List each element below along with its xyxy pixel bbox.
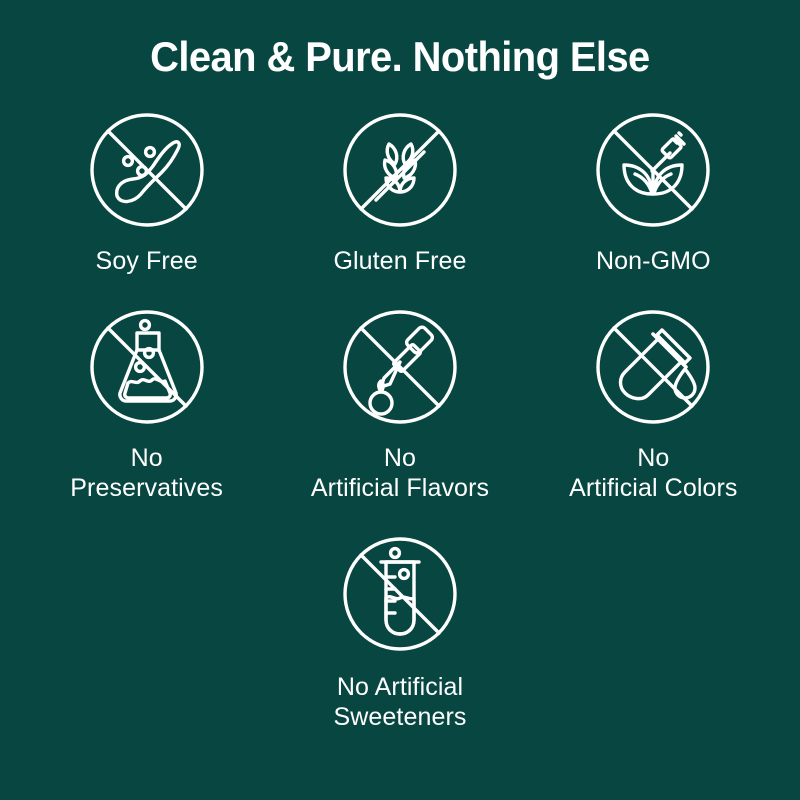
no-artificial-colors-icon [591,305,715,429]
badge-label: No Artificial Flavors [311,443,489,504]
page-title: Clean & Pure. Nothing Else [150,34,650,80]
badge-row: Soy Free Gluten Free [20,108,780,277]
badge-label: Gluten Free [333,246,466,277]
soy-free-icon [85,108,209,232]
badge-label: No Preservatives [70,443,223,504]
badge-label: No Artificial Sweeteners [267,672,533,733]
badge-label: Non-GMO [596,246,711,277]
gluten-free-icon [338,108,462,232]
badge-row: No Artificial Sweeteners [20,532,780,733]
badge-row: No Preservatives No Artificial Flavors [20,305,780,504]
badge-label: No Artificial Colors [569,443,737,504]
no-preservatives-icon [85,305,209,429]
badge-no-artificial-flavors: No Artificial Flavors [273,305,526,504]
badge-grid: Soy Free Gluten Free [20,104,780,733]
badge-gluten-free: Gluten Free [273,108,526,277]
badge-no-artificial-colors: No Artificial Colors [527,305,780,504]
badge-soy-free: Soy Free [20,108,273,277]
badge-label: Soy Free [96,246,198,277]
clean-label-poster: Clean & Pure. Nothing Else Soy Free [0,0,800,800]
no-artificial-sweeteners-icon [338,532,462,656]
badge-non-gmo: Non-GMO [527,108,780,277]
no-artificial-flavors-icon [338,305,462,429]
badge-no-preservatives: No Preservatives [20,305,273,504]
badge-no-artificial-sweeteners: No Artificial Sweeteners [267,532,533,733]
non-gmo-icon [591,108,715,232]
